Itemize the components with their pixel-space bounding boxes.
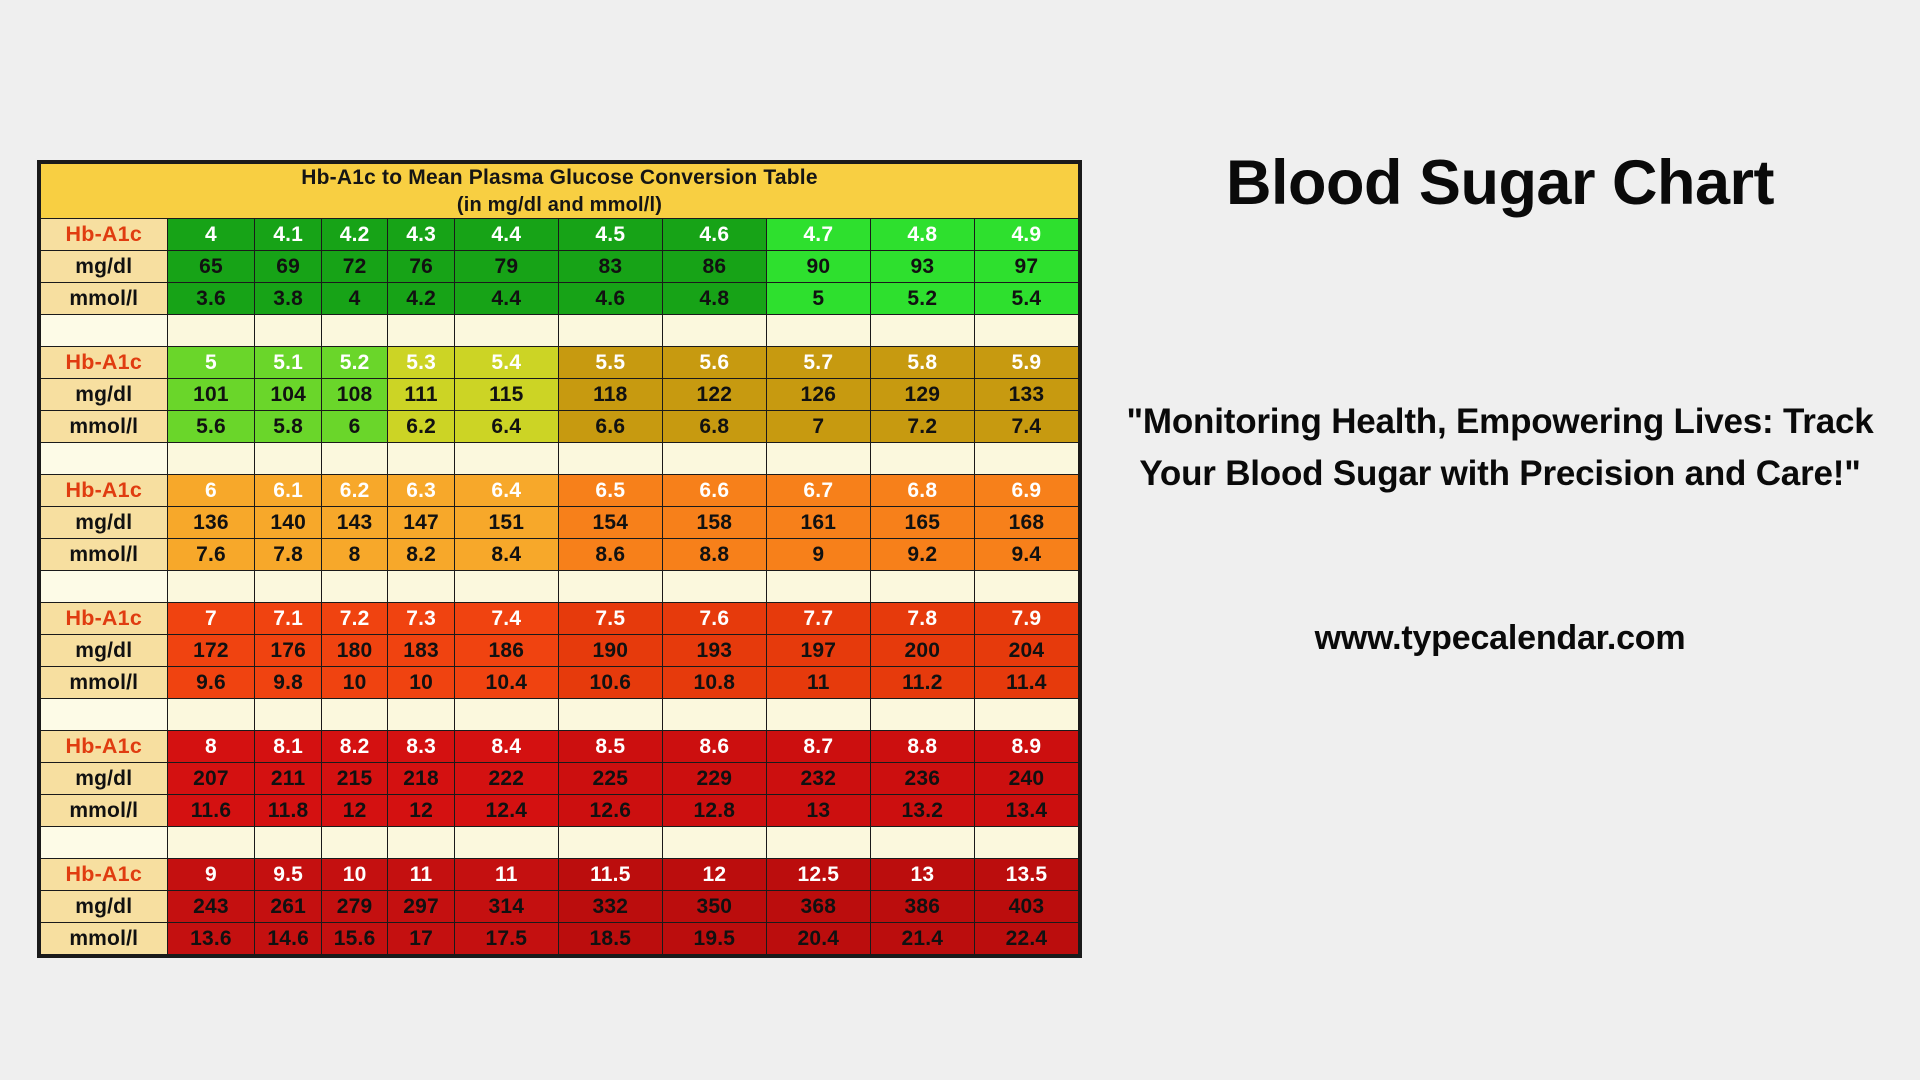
cell-mgdl: 104 [255, 379, 321, 411]
spacer-cell [388, 827, 454, 859]
spacer-cell [454, 699, 558, 731]
cell-mgdl: 140 [255, 507, 321, 539]
row-label-a1c: Hb-A1c [41, 475, 168, 507]
spacer-cell [255, 699, 321, 731]
cell-a1c: 7.4 [454, 603, 558, 635]
cell-mmol: 6.2 [388, 411, 454, 443]
spacer-cell [558, 315, 662, 347]
cell-mmol: 4.8 [662, 283, 766, 315]
spacer-cell [766, 571, 870, 603]
cell-mmol: 13.6 [167, 923, 255, 955]
cell-mmol: 17.5 [454, 923, 558, 955]
spacer-cell [974, 315, 1078, 347]
cell-a1c: 8.4 [454, 731, 558, 763]
spacer-cell [167, 827, 255, 859]
cell-mmol: 6.8 [662, 411, 766, 443]
cell-mgdl: 386 [870, 891, 974, 923]
spacer-cell [974, 699, 1078, 731]
cell-mgdl: 204 [974, 635, 1078, 667]
cell-mgdl: 118 [558, 379, 662, 411]
table-row: mmol/l11.611.8121212.412.612.81313.213.4 [41, 795, 1079, 827]
cell-a1c: 5.3 [388, 347, 454, 379]
spacer-cell [454, 443, 558, 475]
spacer-cell [255, 443, 321, 475]
cell-a1c: 6.2 [321, 475, 387, 507]
cell-a1c: 8.9 [974, 731, 1078, 763]
cell-mgdl: 314 [454, 891, 558, 923]
spacer-label-cell [41, 571, 168, 603]
cell-a1c: 6.5 [558, 475, 662, 507]
cell-mgdl: 126 [766, 379, 870, 411]
table-row: mmol/l3.63.844.24.44.64.855.25.4 [41, 283, 1079, 315]
cell-mmol: 7.6 [167, 539, 255, 571]
table-row: Hb-A1c99.510111111.51212.51313.5 [41, 859, 1079, 891]
cell-mmol: 12.8 [662, 795, 766, 827]
table-row: mmol/l7.67.888.28.48.68.899.29.4 [41, 539, 1079, 571]
table-title-line2: (in mg/dl and mmol/l) [41, 192, 1078, 218]
cell-mgdl: 222 [454, 763, 558, 795]
cell-mmol: 5.6 [167, 411, 255, 443]
cell-mgdl: 197 [766, 635, 870, 667]
spacer-cell [255, 315, 321, 347]
cell-mgdl: 186 [454, 635, 558, 667]
cell-mgdl: 161 [766, 507, 870, 539]
row-label-mmol: mmol/l [41, 539, 168, 571]
cell-mgdl: 151 [454, 507, 558, 539]
row-label-a1c: Hb-A1c [41, 219, 168, 251]
cell-a1c: 7.1 [255, 603, 321, 635]
cell-mgdl: 101 [167, 379, 255, 411]
cell-a1c: 13 [870, 859, 974, 891]
spacer-cell [974, 827, 1078, 859]
cell-mgdl: 236 [870, 763, 974, 795]
spacer-cell [454, 827, 558, 859]
table-title: Hb-A1c to Mean Plasma Glucose Conversion… [41, 164, 1079, 219]
cell-mmol: 9.8 [255, 667, 321, 699]
row-label-a1c: Hb-A1c [41, 347, 168, 379]
cell-mmol: 13.4 [974, 795, 1078, 827]
spacer-cell [870, 699, 974, 731]
cell-mmol: 12 [388, 795, 454, 827]
cell-a1c: 12 [662, 859, 766, 891]
row-label-mgdl: mg/dl [41, 251, 168, 283]
cell-mmol: 4.4 [454, 283, 558, 315]
cell-a1c: 13.5 [974, 859, 1078, 891]
cell-mmol: 6.4 [454, 411, 558, 443]
cell-a1c: 11.5 [558, 859, 662, 891]
row-label-mmol: mmol/l [41, 795, 168, 827]
spacer-row [41, 827, 1079, 859]
cell-mgdl: 180 [321, 635, 387, 667]
cell-mgdl: 261 [255, 891, 321, 923]
cell-mmol: 10.8 [662, 667, 766, 699]
conversion-table-card: Hb-A1c to Mean Plasma Glucose Conversion… [37, 160, 1082, 958]
cell-mmol: 10.6 [558, 667, 662, 699]
cell-mmol: 17 [388, 923, 454, 955]
cell-mgdl: 165 [870, 507, 974, 539]
cell-mgdl: 79 [454, 251, 558, 283]
spacer-cell [662, 443, 766, 475]
cell-a1c: 8.2 [321, 731, 387, 763]
spacer-label-cell [41, 443, 168, 475]
cell-mgdl: 279 [321, 891, 387, 923]
cell-mmol: 12.4 [454, 795, 558, 827]
cell-a1c: 6.4 [454, 475, 558, 507]
cell-a1c: 5 [167, 347, 255, 379]
cell-mgdl: 83 [558, 251, 662, 283]
cell-a1c: 8.7 [766, 731, 870, 763]
table-row: Hb-A1c77.17.27.37.47.57.67.77.87.9 [41, 603, 1079, 635]
cell-a1c: 5.1 [255, 347, 321, 379]
spacer-cell [662, 315, 766, 347]
cell-a1c: 11 [388, 859, 454, 891]
spacer-row [41, 699, 1079, 731]
cell-mgdl: 183 [388, 635, 454, 667]
spacer-cell [321, 571, 387, 603]
spacer-cell [766, 699, 870, 731]
cell-a1c: 9 [167, 859, 255, 891]
cell-a1c: 4.7 [766, 219, 870, 251]
cell-mmol: 18.5 [558, 923, 662, 955]
cell-a1c: 7.6 [662, 603, 766, 635]
cell-mmol: 20.4 [766, 923, 870, 955]
cell-a1c: 5.8 [870, 347, 974, 379]
cell-mmol: 3.8 [255, 283, 321, 315]
spacer-cell [454, 571, 558, 603]
cell-a1c: 8.3 [388, 731, 454, 763]
tagline-quote: "Monitoring Health, Empowering Lives: Tr… [1105, 396, 1895, 499]
cell-a1c: 4.6 [662, 219, 766, 251]
table-title-row: Hb-A1c to Mean Plasma Glucose Conversion… [41, 164, 1079, 219]
cell-a1c: 4.1 [255, 219, 321, 251]
spacer-cell [766, 443, 870, 475]
cell-mmol: 11.2 [870, 667, 974, 699]
spacer-cell [454, 315, 558, 347]
cell-a1c: 4.4 [454, 219, 558, 251]
cell-a1c: 8.6 [662, 731, 766, 763]
cell-mgdl: 122 [662, 379, 766, 411]
cell-mgdl: 215 [321, 763, 387, 795]
row-label-mgdl: mg/dl [41, 379, 168, 411]
cell-mmol: 9.4 [974, 539, 1078, 571]
cell-a1c: 11 [454, 859, 558, 891]
cell-mgdl: 147 [388, 507, 454, 539]
row-label-mmol: mmol/l [41, 411, 168, 443]
cell-a1c: 9.5 [255, 859, 321, 891]
cell-a1c: 7 [167, 603, 255, 635]
cell-a1c: 8.8 [870, 731, 974, 763]
spacer-cell [167, 315, 255, 347]
right-panel: Blood Sugar Chart "Monitoring Health, Em… [1105, 150, 1895, 658]
cell-a1c: 5.7 [766, 347, 870, 379]
table-row: mg/dl65697276798386909397 [41, 251, 1079, 283]
table-row: Hb-A1c66.16.26.36.46.56.66.76.86.9 [41, 475, 1079, 507]
row-label-a1c: Hb-A1c [41, 603, 168, 635]
cell-a1c: 4.5 [558, 219, 662, 251]
page-title: Blood Sugar Chart [1105, 150, 1895, 216]
spacer-cell [662, 571, 766, 603]
spacer-cell [321, 443, 387, 475]
cell-mmol: 8.8 [662, 539, 766, 571]
cell-a1c: 7.5 [558, 603, 662, 635]
spacer-cell [870, 315, 974, 347]
spacer-cell [766, 827, 870, 859]
spacer-cell [167, 443, 255, 475]
cell-mmol: 13.2 [870, 795, 974, 827]
spacer-row [41, 315, 1079, 347]
spacer-label-cell [41, 827, 168, 859]
cell-mmol: 22.4 [974, 923, 1078, 955]
cell-mmol: 11.6 [167, 795, 255, 827]
spacer-cell [255, 827, 321, 859]
cell-a1c: 5.5 [558, 347, 662, 379]
cell-mgdl: 129 [870, 379, 974, 411]
cell-mgdl: 332 [558, 891, 662, 923]
cell-mgdl: 69 [255, 251, 321, 283]
cell-mgdl: 176 [255, 635, 321, 667]
cell-mgdl: 190 [558, 635, 662, 667]
spacer-cell [558, 699, 662, 731]
cell-mmol: 5 [766, 283, 870, 315]
row-label-a1c: Hb-A1c [41, 731, 168, 763]
table-row: mmol/l13.614.615.61717.518.519.520.421.4… [41, 923, 1079, 955]
cell-mmol: 10 [388, 667, 454, 699]
spacer-cell [870, 571, 974, 603]
cell-mgdl: 350 [662, 891, 766, 923]
spacer-label-cell [41, 315, 168, 347]
cell-a1c: 6 [167, 475, 255, 507]
spacer-cell [388, 571, 454, 603]
cell-a1c: 6.9 [974, 475, 1078, 507]
cell-mgdl: 200 [870, 635, 974, 667]
cell-mmol: 10.4 [454, 667, 558, 699]
cell-mgdl: 368 [766, 891, 870, 923]
cell-mgdl: 172 [167, 635, 255, 667]
cell-mmol: 11.8 [255, 795, 321, 827]
row-label-mmol: mmol/l [41, 283, 168, 315]
cell-a1c: 4.2 [321, 219, 387, 251]
cell-mgdl: 72 [321, 251, 387, 283]
cell-mgdl: 403 [974, 891, 1078, 923]
table-row: mg/dl207211215218222225229232236240 [41, 763, 1079, 795]
cell-mmol: 8.6 [558, 539, 662, 571]
cell-mmol: 3.6 [167, 283, 255, 315]
table-title-line1: Hb-A1c to Mean Plasma Glucose Conversion… [301, 166, 817, 189]
poster-root: Hb-A1c to Mean Plasma Glucose Conversion… [0, 0, 1920, 1080]
table-row: mg/dl136140143147151154158161165168 [41, 507, 1079, 539]
cell-a1c: 4.9 [974, 219, 1078, 251]
cell-mmol: 19.5 [662, 923, 766, 955]
spacer-cell [388, 315, 454, 347]
cell-mgdl: 207 [167, 763, 255, 795]
spacer-cell [870, 443, 974, 475]
cell-mmol: 4.6 [558, 283, 662, 315]
cell-mgdl: 168 [974, 507, 1078, 539]
spacer-cell [974, 443, 1078, 475]
spacer-cell [167, 571, 255, 603]
row-label-mmol: mmol/l [41, 667, 168, 699]
cell-mmol: 9.6 [167, 667, 255, 699]
row-label-mgdl: mg/dl [41, 763, 168, 795]
table-row: Hb-A1c44.14.24.34.44.54.64.74.84.9 [41, 219, 1079, 251]
cell-mgdl: 111 [388, 379, 454, 411]
cell-mmol: 7.2 [870, 411, 974, 443]
spacer-cell [662, 827, 766, 859]
spacer-cell [870, 827, 974, 859]
cell-a1c: 7.8 [870, 603, 974, 635]
cell-mmol: 11.4 [974, 667, 1078, 699]
spacer-label-cell [41, 699, 168, 731]
cell-a1c: 6.7 [766, 475, 870, 507]
table-row: Hb-A1c55.15.25.35.45.55.65.75.85.9 [41, 347, 1079, 379]
cell-mmol: 12.6 [558, 795, 662, 827]
cell-a1c: 5.2 [321, 347, 387, 379]
spacer-cell [321, 315, 387, 347]
cell-a1c: 12.5 [766, 859, 870, 891]
cell-mmol: 4.2 [388, 283, 454, 315]
spacer-cell [321, 699, 387, 731]
row-label-mgdl: mg/dl [41, 635, 168, 667]
cell-mgdl: 225 [558, 763, 662, 795]
cell-mgdl: 65 [167, 251, 255, 283]
spacer-cell [558, 571, 662, 603]
spacer-cell [558, 827, 662, 859]
cell-a1c: 6.3 [388, 475, 454, 507]
cell-mgdl: 108 [321, 379, 387, 411]
cell-mmol: 8.4 [454, 539, 558, 571]
spacer-cell [388, 443, 454, 475]
spacer-cell [167, 699, 255, 731]
cell-mgdl: 229 [662, 763, 766, 795]
cell-mgdl: 193 [662, 635, 766, 667]
spacer-cell [974, 571, 1078, 603]
cell-mmol: 4 [321, 283, 387, 315]
cell-mgdl: 240 [974, 763, 1078, 795]
cell-mmol: 5.4 [974, 283, 1078, 315]
cell-a1c: 5.6 [662, 347, 766, 379]
spacer-cell [255, 571, 321, 603]
cell-mmol: 14.6 [255, 923, 321, 955]
cell-a1c: 4.8 [870, 219, 974, 251]
cell-a1c: 6.6 [662, 475, 766, 507]
cell-mgdl: 86 [662, 251, 766, 283]
cell-a1c: 7.2 [321, 603, 387, 635]
cell-mgdl: 97 [974, 251, 1078, 283]
table-row: mmol/l5.65.866.26.46.66.877.27.4 [41, 411, 1079, 443]
row-label-mgdl: mg/dl [41, 891, 168, 923]
cell-a1c: 4.3 [388, 219, 454, 251]
cell-mmol: 8 [321, 539, 387, 571]
cell-mmol: 7 [766, 411, 870, 443]
cell-mmol: 8.2 [388, 539, 454, 571]
cell-a1c: 5.4 [454, 347, 558, 379]
row-label-a1c: Hb-A1c [41, 859, 168, 891]
cell-mgdl: 115 [454, 379, 558, 411]
row-label-mmol: mmol/l [41, 923, 168, 955]
cell-a1c: 7.3 [388, 603, 454, 635]
table-row: mg/dl172176180183186190193197200204 [41, 635, 1079, 667]
cell-mmol: 9.2 [870, 539, 974, 571]
row-label-mgdl: mg/dl [41, 507, 168, 539]
cell-mmol: 6 [321, 411, 387, 443]
cell-mgdl: 136 [167, 507, 255, 539]
cell-mmol: 21.4 [870, 923, 974, 955]
cell-mmol: 13 [766, 795, 870, 827]
cell-mgdl: 154 [558, 507, 662, 539]
cell-mgdl: 133 [974, 379, 1078, 411]
cell-mmol: 10 [321, 667, 387, 699]
conversion-table: Hb-A1c to Mean Plasma Glucose Conversion… [40, 163, 1079, 955]
cell-mmol: 5.8 [255, 411, 321, 443]
cell-mgdl: 76 [388, 251, 454, 283]
spacer-cell [388, 699, 454, 731]
cell-a1c: 8.1 [255, 731, 321, 763]
spacer-cell [321, 827, 387, 859]
cell-mgdl: 232 [766, 763, 870, 795]
cell-mgdl: 297 [388, 891, 454, 923]
cell-a1c: 7.7 [766, 603, 870, 635]
cell-mmol: 9 [766, 539, 870, 571]
spacer-cell [766, 315, 870, 347]
cell-a1c: 6.1 [255, 475, 321, 507]
spacer-row [41, 443, 1079, 475]
cell-a1c: 7.9 [974, 603, 1078, 635]
spacer-cell [662, 699, 766, 731]
table-row: mg/dl101104108111115118122126129133 [41, 379, 1079, 411]
cell-mgdl: 243 [167, 891, 255, 923]
cell-mmol: 7.4 [974, 411, 1078, 443]
cell-mgdl: 211 [255, 763, 321, 795]
cell-mgdl: 93 [870, 251, 974, 283]
website-url: www.typecalendar.com [1105, 619, 1895, 658]
cell-mgdl: 143 [321, 507, 387, 539]
cell-mgdl: 90 [766, 251, 870, 283]
table-row: mg/dl243261279297314332350368386403 [41, 891, 1079, 923]
cell-mmol: 12 [321, 795, 387, 827]
cell-a1c: 4 [167, 219, 255, 251]
cell-a1c: 6.8 [870, 475, 974, 507]
cell-mmol: 5.2 [870, 283, 974, 315]
cell-a1c: 8 [167, 731, 255, 763]
cell-a1c: 8.5 [558, 731, 662, 763]
cell-mmol: 15.6 [321, 923, 387, 955]
spacer-row [41, 571, 1079, 603]
table-row: mmol/l9.69.8101010.410.610.81111.211.4 [41, 667, 1079, 699]
cell-mgdl: 218 [388, 763, 454, 795]
cell-mmol: 11 [766, 667, 870, 699]
cell-a1c: 5.9 [974, 347, 1078, 379]
cell-a1c: 10 [321, 859, 387, 891]
cell-mmol: 7.8 [255, 539, 321, 571]
table-row: Hb-A1c88.18.28.38.48.58.68.78.88.9 [41, 731, 1079, 763]
spacer-cell [558, 443, 662, 475]
cell-mmol: 6.6 [558, 411, 662, 443]
cell-mgdl: 158 [662, 507, 766, 539]
